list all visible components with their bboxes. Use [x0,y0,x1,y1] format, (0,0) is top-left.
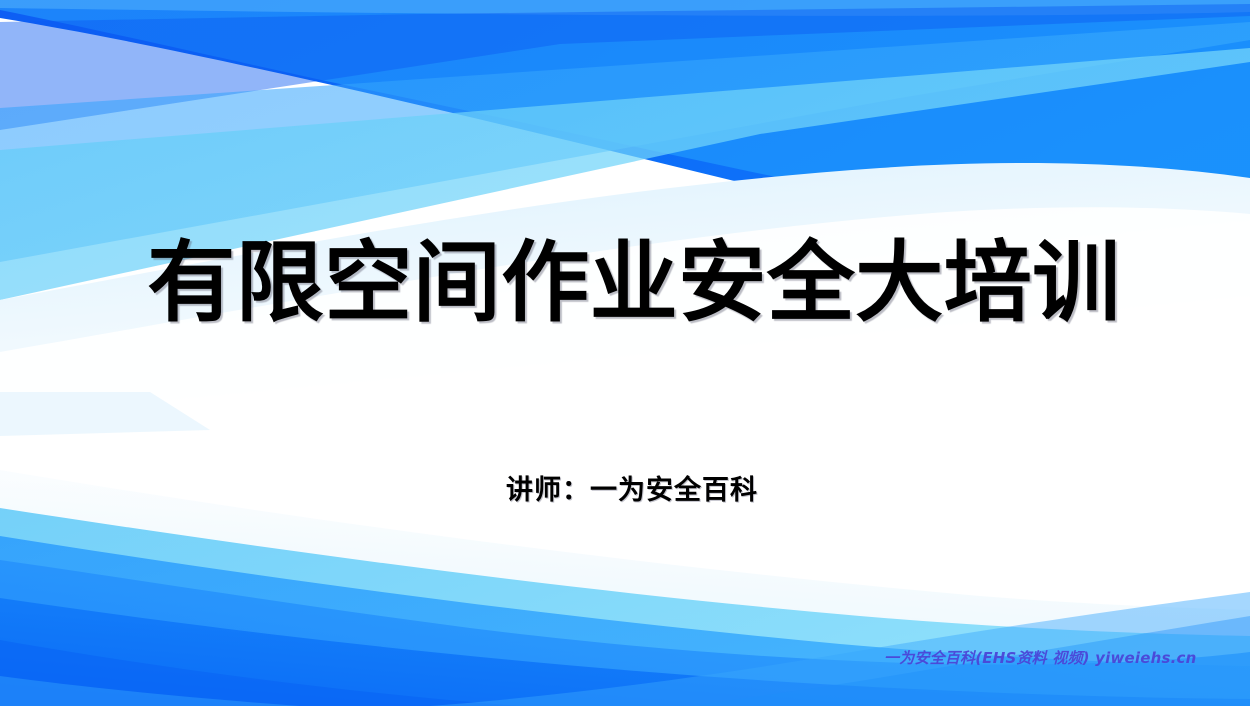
title-block: 有限空间作业安全大培训 [0,236,1250,329]
subtitle-block: 讲师：一为安全百科 [0,475,1250,507]
page-title: 有限空间作业安全大培训 [129,236,1121,329]
watermark-text: 一为安全百科(EHS资料 视频) yiweiehs.cn [884,647,1197,668]
presentation-slide: 有限空间作业安全大培训 讲师：一为安全百科 一为安全百科(EHS资料 视频) y… [0,0,1250,706]
presenter-subtitle: 讲师：一为安全百科 [492,475,758,507]
slide-content: 有限空间作业安全大培训 讲师：一为安全百科 [0,0,1250,706]
